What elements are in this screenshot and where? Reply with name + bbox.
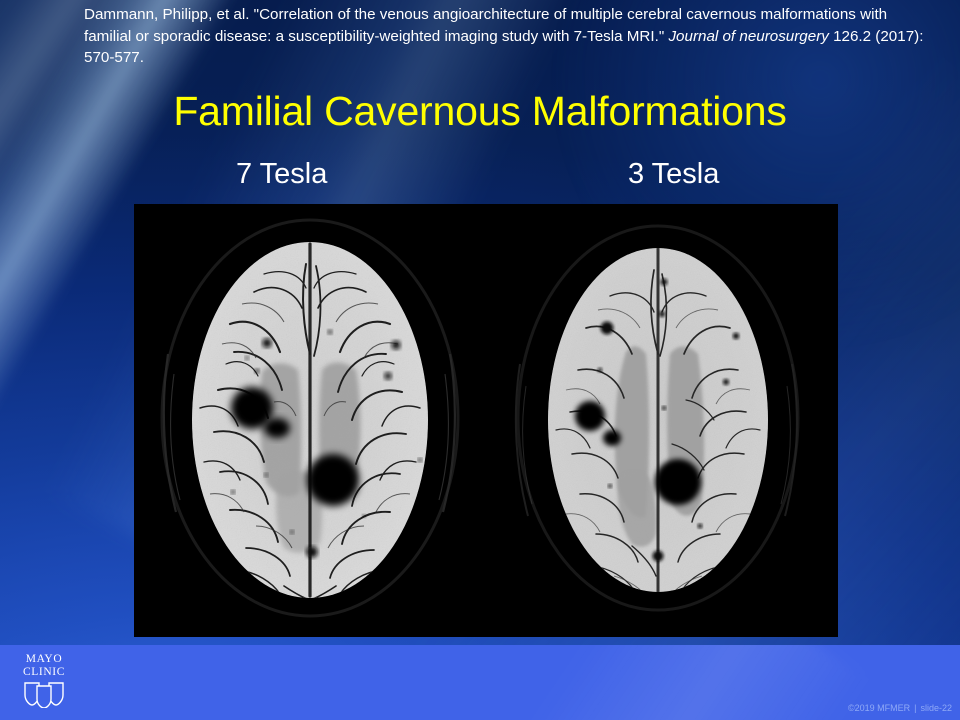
- slide-title: Familial Cavernous Malformations: [0, 88, 960, 134]
- brain-svg-3t: [486, 204, 838, 637]
- logo-text-mayo: MAYO: [12, 653, 76, 666]
- brain-image-7-tesla: [134, 204, 486, 637]
- brain-image-3-tesla: [486, 204, 838, 637]
- lesion-large-central: [307, 454, 359, 506]
- slide-canvas: Familial Cavernous Malformations 7 Tesla…: [0, 0, 960, 720]
- lesion-small-left: [264, 418, 290, 438]
- lesion-large-central-3t: [655, 459, 701, 505]
- citation-text: Dammann, Philipp, et al. "Correlation of…: [84, 4, 924, 69]
- citation-journal-name: Journal of neurosurgery: [668, 28, 828, 45]
- three-shields-icon: [22, 680, 66, 708]
- footer-meta: ©2019 MFMER|slide-22: [848, 703, 952, 714]
- footer-copyright: ©2019 MFMER: [848, 703, 910, 713]
- brain-svg-7t: [134, 204, 486, 637]
- mri-image-panel: [134, 204, 838, 637]
- mayo-clinic-logo: MAYO CLINIC: [12, 653, 76, 715]
- caption-band: [0, 645, 960, 720]
- label-7-tesla: 7 Tesla: [236, 157, 327, 191]
- lesion-small-left-3t: [603, 430, 621, 446]
- lesion-large-left-3t: [575, 401, 605, 431]
- logo-text-clinic: CLINIC: [12, 666, 76, 679]
- footer-slide-number: slide-22: [920, 703, 952, 713]
- label-3-tesla: 3 Tesla: [628, 157, 719, 191]
- footer-separator: |: [910, 703, 920, 713]
- caption-band-sheen: [510, 645, 871, 720]
